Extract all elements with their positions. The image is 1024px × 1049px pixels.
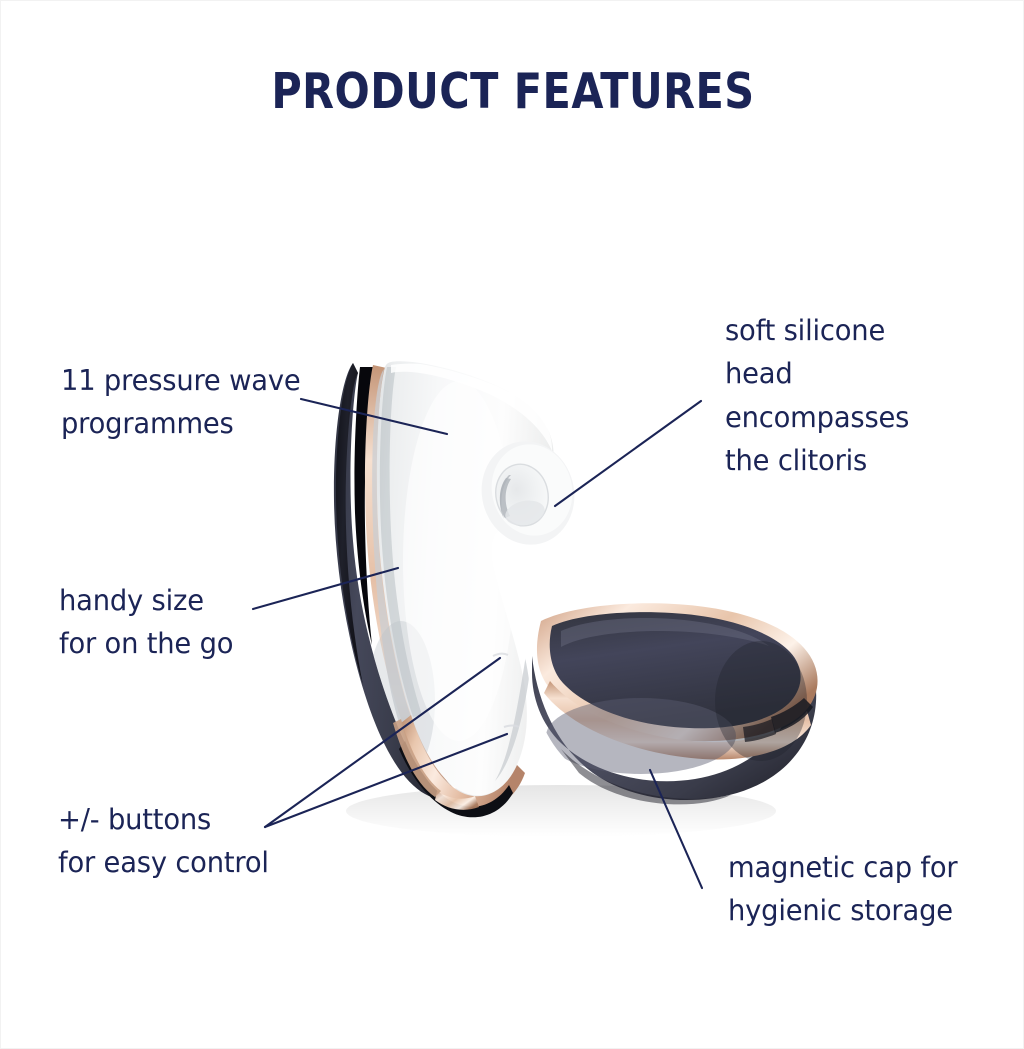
callout-plus-minus-buttons: +/- buttons for easy control <box>58 798 269 885</box>
callout-pressure-wave-programmes: 11 pressure wave programmes <box>61 359 300 446</box>
leader-line-silicone <box>555 401 701 506</box>
magnetic-cap <box>532 603 818 804</box>
callout-soft-silicone-head: soft silicone head encompasses the clito… <box>725 309 909 482</box>
product-features-infographic: PRODUCT FEATURES <box>0 0 1024 1049</box>
device-body <box>334 361 585 817</box>
callout-handy-size: handy size for on the go <box>59 579 233 666</box>
callout-magnetic-cap: magnetic cap for hygienic storage <box>728 846 957 933</box>
